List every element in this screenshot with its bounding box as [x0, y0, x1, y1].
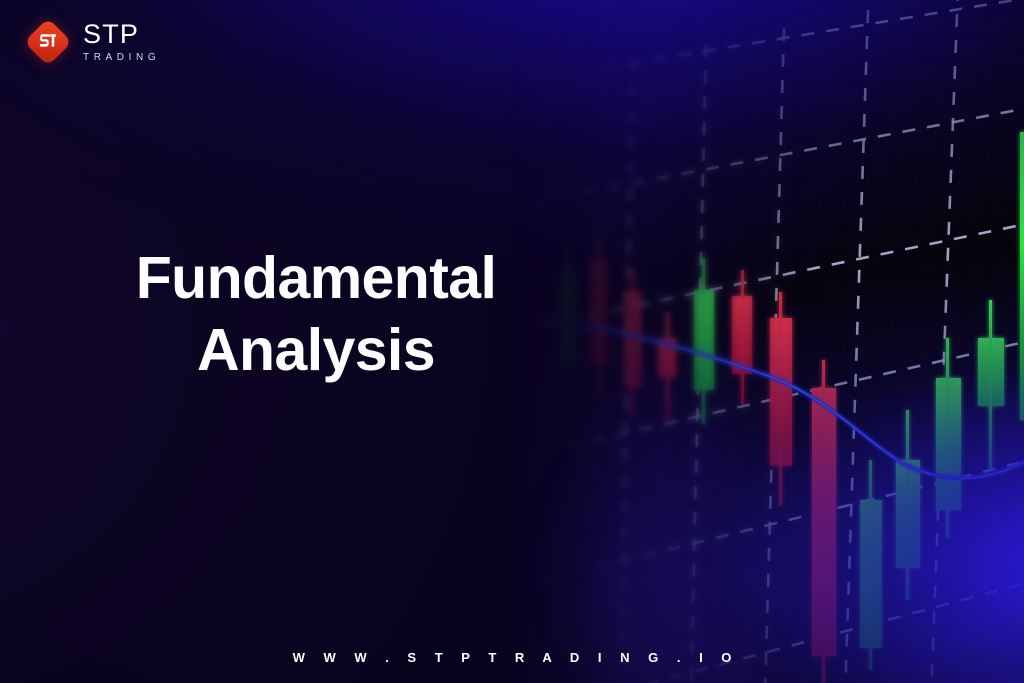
- stp-diamond-monogram-icon: [26, 20, 70, 64]
- brand-tagline: TRADING: [83, 53, 160, 63]
- brand-name: STP: [83, 21, 160, 48]
- page-title: Fundamental Analysis: [62, 243, 570, 387]
- page-title-line-2: Analysis: [62, 315, 570, 387]
- brand-wordmark: STP TRADING: [83, 21, 160, 63]
- logo-monogram-glyph: [37, 31, 59, 53]
- poster-canvas: STP TRADING Fundamental Analysis W W W .…: [0, 0, 1024, 683]
- brand-logo[interactable]: STP TRADING: [26, 20, 160, 64]
- page-title-line-1: Fundamental: [62, 243, 570, 315]
- footer-website-url[interactable]: W W W . S T P T R A D I N G . I O: [0, 650, 1024, 665]
